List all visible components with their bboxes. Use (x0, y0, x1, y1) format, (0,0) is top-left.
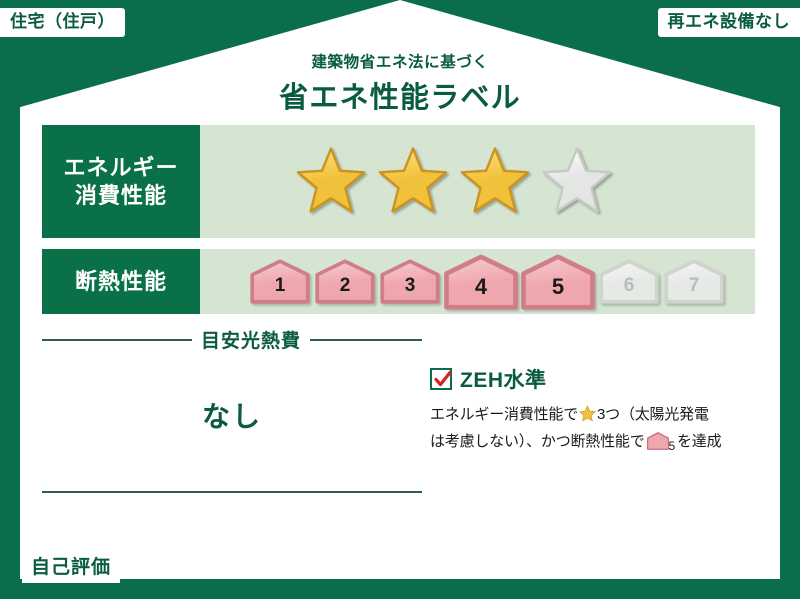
energy-label-line1: エネルギー (63, 154, 178, 182)
insulation-grade-chip: 2 (313, 259, 377, 304)
category-tag: 住宅（住戸） (0, 8, 125, 37)
utility-cost-header: 目安光熱費 (42, 326, 422, 353)
insulation-performance-label-cell: 断熱性能 (42, 249, 200, 314)
star-filled-icon (457, 144, 533, 220)
utility-cost-title: 目安光熱費 (201, 326, 301, 353)
zeh-desc-part3: を達成 (677, 433, 721, 450)
insulation-grade-value: 4 (443, 276, 519, 298)
insulation-label: 断熱性能 (75, 268, 167, 296)
energy-performance-label-cell: エネルギー 消費性能 (42, 125, 200, 238)
renewable-equipment-tag: 再エネ設備なし (658, 8, 800, 37)
evaluation-id: 8397c370-9fdb-42ea (659, 568, 778, 582)
rule-right (310, 339, 422, 341)
insulation-grade-value: 2 (313, 276, 377, 295)
building-name: 4332川口市東貝塚7期3棟1号棟 (120, 553, 373, 579)
insulation-performance-row: 断熱性能 1234567 (42, 249, 755, 314)
insulation-grade-value: 1 (248, 276, 312, 295)
insulation-grade-chip: 3 (378, 259, 442, 304)
zeh-description: エネルギー消費性能で3つ（太陽光発電は考慮しない）、かつ断熱性能で5を達成 (430, 403, 760, 458)
insulation-grade-value: 5 (520, 276, 596, 298)
utility-cost-value: なし (42, 395, 422, 435)
zeh-header: ZEH水準 (430, 364, 760, 394)
insulation-grade-chip: 7 (662, 259, 726, 304)
utility-cost-block: 目安光熱費 なし (42, 326, 422, 435)
insulation-grade-chip: 5 (520, 254, 596, 310)
insulation-grade-value: 7 (662, 276, 726, 295)
label-footer: 自己評価 4332川口市東貝塚7期3棟1号棟 評価日 2025年9月8日 839… (0, 537, 800, 599)
evaluation-date: 評価日 2025年9月8日 (615, 545, 778, 570)
zeh-block: ZEH水準 エネルギー消費性能で3つ（太陽光発電は考慮しない）、かつ断熱性能で5… (430, 364, 760, 458)
zeh-title: ZEH水準 (460, 364, 547, 394)
rule-left (42, 339, 192, 341)
label-subtitle: 建築物省エネ法に基づく (0, 50, 800, 72)
inline-grade-chip: 5 (647, 432, 675, 458)
insulation-grade-chip: 6 (597, 259, 661, 304)
self-evaluation-badge: 自己評価 (22, 549, 120, 583)
energy-performance-label: 住宅（住戸） 再エネ設備なし 建築物省エネ法に基づく 省エネ性能ラベル エネルギ… (0, 0, 800, 599)
page-title: 省エネ性能ラベル (0, 74, 800, 116)
inline-chip-value: 5 (669, 439, 675, 453)
inline-star-icon (579, 405, 596, 430)
insulation-grade-value: 6 (597, 276, 661, 295)
insulation-grade-scale: 1234567 (200, 249, 755, 314)
star-filled-icon (293, 144, 369, 220)
energy-label-line2: 消費性能 (75, 182, 167, 210)
insulation-grade-chip: 4 (443, 254, 519, 310)
utility-cost-bottom-rule (42, 491, 422, 493)
checkmark-icon (433, 370, 453, 389)
zeh-desc-star-count: 3つ（太陽光発電 (597, 406, 709, 423)
zeh-checkbox[interactable] (430, 368, 452, 390)
star-empty-icon (539, 144, 615, 220)
star-filled-icon (375, 144, 451, 220)
zeh-desc-part2: は考慮しない）、かつ断熱性能で (430, 433, 645, 450)
insulation-grade-chip: 1 (248, 259, 312, 304)
insulation-grade-value: 3 (378, 276, 442, 295)
energy-performance-row: エネルギー 消費性能 (42, 125, 755, 238)
energy-star-rating (200, 125, 755, 238)
zeh-desc-part1: エネルギー消費性能で (430, 406, 578, 423)
